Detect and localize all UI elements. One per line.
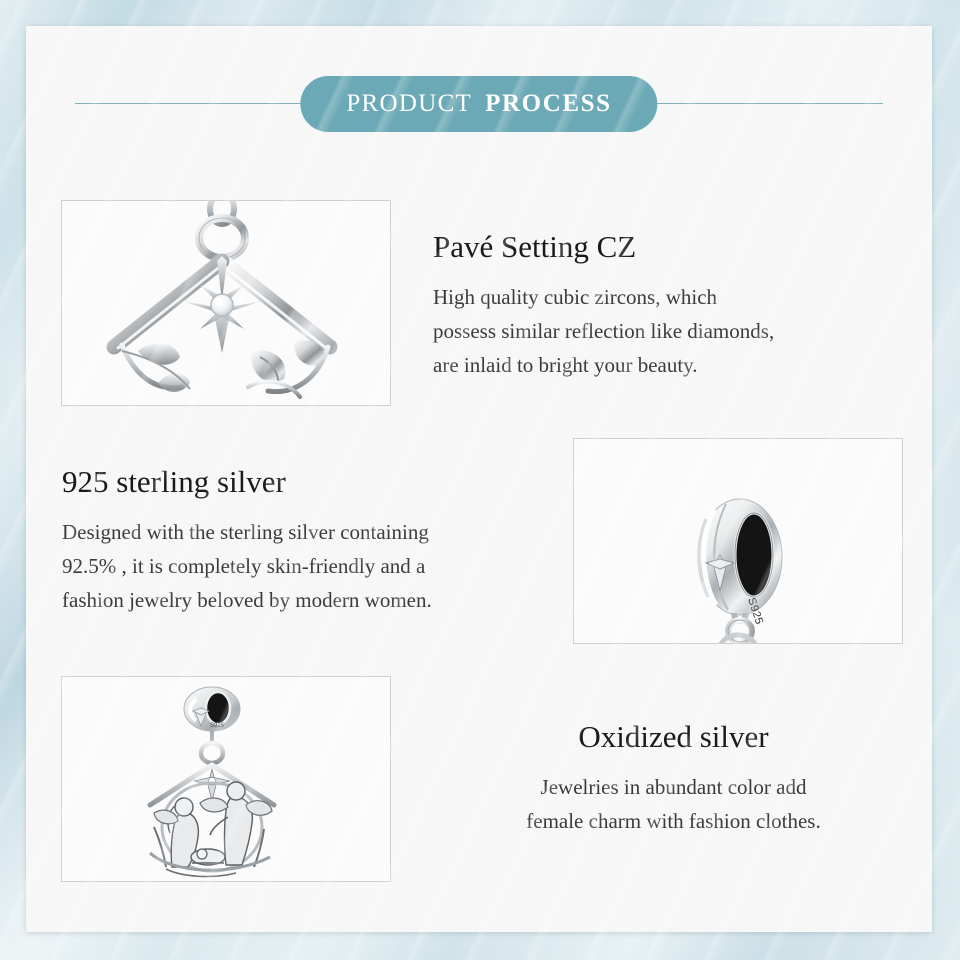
svg-text:S925: S925 — [210, 723, 225, 729]
section-1-body-line-1: High quality cubic zircons, which — [433, 285, 717, 309]
section-2-heading: 925 sterling silver — [62, 463, 562, 501]
section-3-image-frame: S925 — [61, 676, 391, 882]
section-1-body-line-3: are inlaid to bright your beauty. — [433, 353, 698, 377]
section-2-image-frame: S925 — [573, 438, 903, 644]
section-1-text-block: Pavé Setting CZ High quality cubic zirco… — [433, 228, 903, 382]
product-process-infographic: PRODUCT PROCESS — [0, 0, 960, 960]
section-3-body-line-1: Jewelries in abundant color add — [541, 775, 807, 799]
pave-setting-closeup-photo — [62, 201, 390, 405]
oxidized-silver-nativity-charm-photo: S925 — [62, 677, 390, 881]
section-2-body-line-1: Designed with the sterling silver contai… — [62, 520, 429, 544]
section-1-heading: Pavé Setting CZ — [433, 228, 903, 266]
sterling-silver-bead-photo: S925 — [574, 439, 902, 643]
content-card: PRODUCT PROCESS — [26, 26, 932, 932]
section-3-heading: Oxidized silver — [446, 718, 901, 756]
section-3-body: Jewelries in abundant color add female c… — [446, 770, 901, 838]
section-1-body: High quality cubic zircons, which posses… — [433, 280, 903, 382]
section-1-body-line-2: possess similar reflection like diamonds… — [433, 319, 774, 343]
section-3-text-block: Oxidized silver Jewelries in abundant co… — [446, 718, 901, 838]
section-2-body-line-3: fashion jewelry beloved by modern women. — [62, 588, 432, 612]
section-2-body: Designed with the sterling silver contai… — [62, 515, 562, 617]
banner-title-regular: PRODUCT — [346, 90, 472, 118]
section-3-body-line-2: female charm with fashion clothes. — [526, 809, 820, 833]
banner-title-bold: PROCESS — [485, 90, 612, 118]
section-2-text-block: 925 sterling silver Designed with the st… — [62, 463, 562, 617]
section-1-image-frame — [61, 200, 391, 406]
section-2-body-line-2: 92.5% , it is completely skin-friendly a… — [62, 554, 425, 578]
banner-title-pill: PRODUCT PROCESS — [300, 76, 657, 132]
banner-header: PRODUCT PROCESS — [26, 76, 932, 132]
